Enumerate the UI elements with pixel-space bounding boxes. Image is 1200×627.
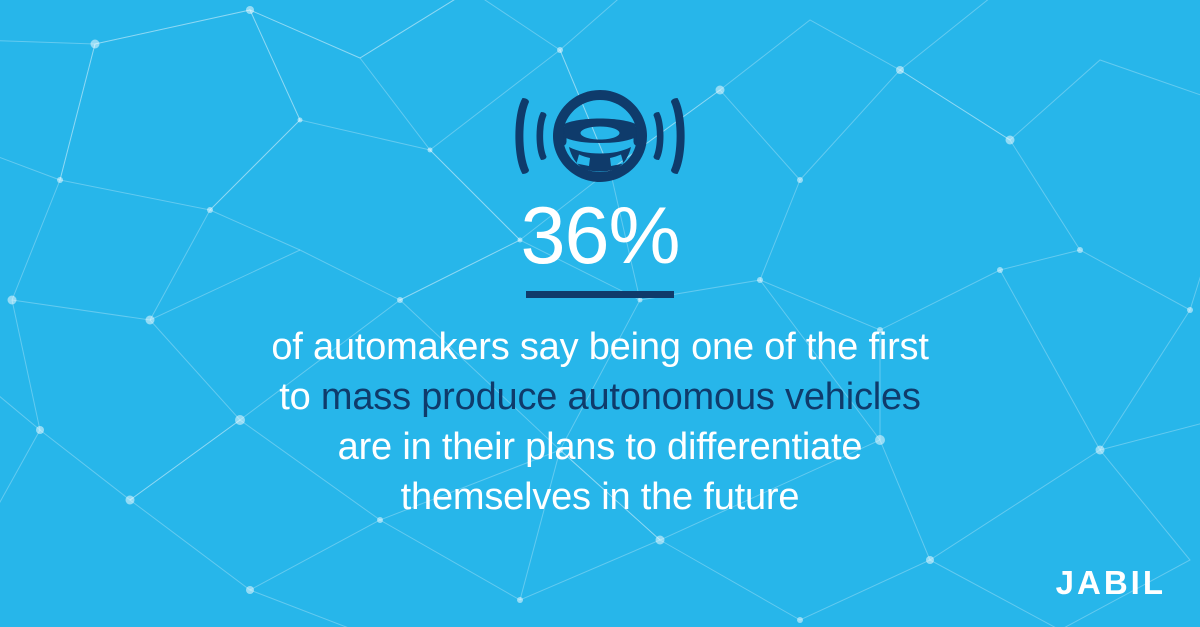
infographic-canvas: 36% of automakers say being one of the f… (0, 0, 1200, 627)
caption-text: of automakers say being one of the first… (0, 322, 1200, 522)
caption-line-2-plain: to (279, 376, 321, 418)
caption-line-3: are in their plans to differentiate (0, 422, 1200, 472)
jabil-logo: JABIL (1056, 566, 1166, 599)
caption-line-2: to mass produce autonomous vehicles (0, 372, 1200, 422)
stat-block: 36% (0, 196, 1200, 298)
caption-line-1: of automakers say being one of the first (0, 322, 1200, 372)
autonomous-steering-wheel-icon (500, 88, 700, 184)
caption-line-2-highlight: mass produce autonomous vehicles (321, 376, 921, 418)
icon-container (0, 88, 1200, 189)
stat-value: 36% (0, 196, 1200, 277)
stat-underline-rule (526, 291, 674, 298)
caption-line-4: themselves in the future (0, 472, 1200, 522)
